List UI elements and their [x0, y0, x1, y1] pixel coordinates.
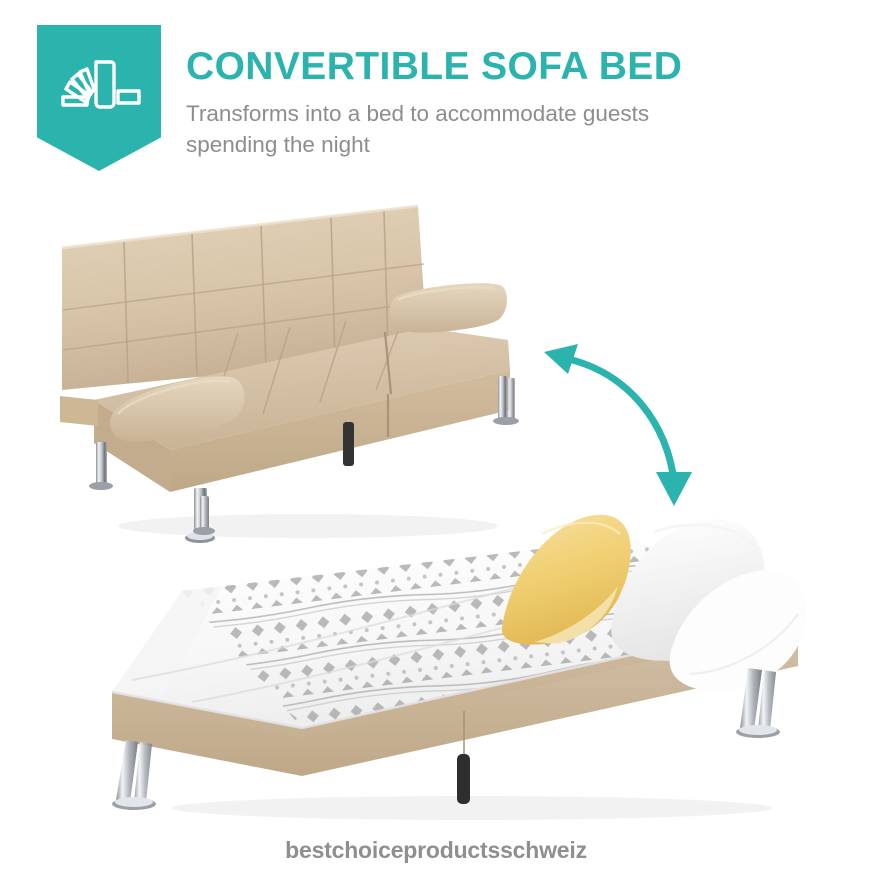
product-stage	[0, 186, 872, 826]
convert-arrow-icon	[534, 334, 724, 514]
bed-leg-center-support	[457, 754, 470, 804]
product-feature-graphic: CONVERTIBLE SOFA BED Transforms into a b…	[0, 0, 872, 873]
title-block: CONVERTIBLE SOFA BED Transforms into a b…	[186, 44, 846, 160]
watermark-text: bestchoiceproductsschweiz	[0, 836, 872, 864]
convertible-sofa-bed-icon	[51, 47, 147, 127]
page-title: CONVERTIBLE SOFA BED	[186, 44, 846, 90]
header: CONVERTIBLE SOFA BED Transforms into a b…	[0, 0, 872, 196]
bed-leg-chrome-front-left	[112, 740, 156, 810]
sofa-leg-center-support	[343, 422, 354, 466]
bed-mode-image	[72, 496, 812, 826]
bed-leg-chrome-rear	[193, 496, 215, 535]
page-subtitle: Transforms into a bed to accommodate gue…	[186, 98, 726, 160]
feature-badge	[37, 25, 161, 171]
